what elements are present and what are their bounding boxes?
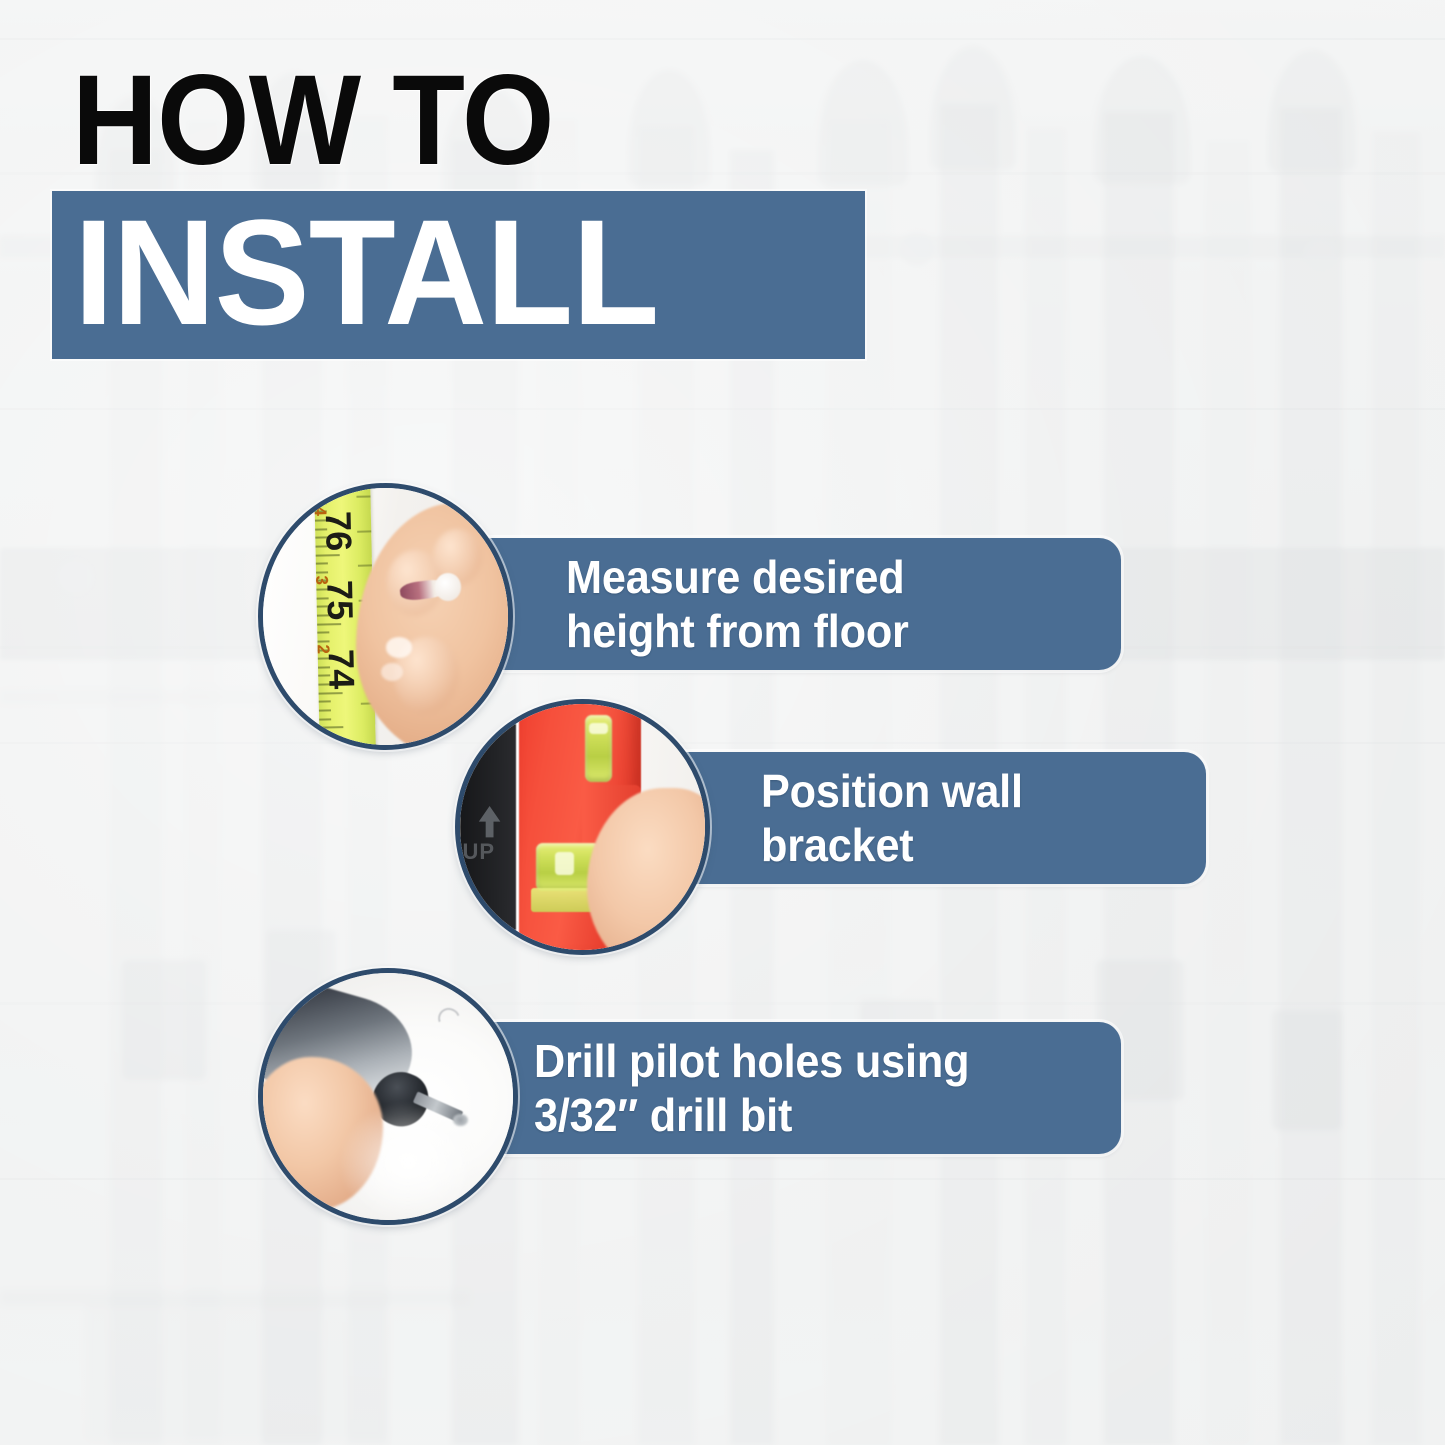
light-glare <box>338 1101 478 1220</box>
step-1-label-text: Measure desired height from floor <box>566 550 909 659</box>
level-vial-vertical <box>585 715 612 781</box>
fingernail <box>386 637 413 658</box>
fingernail <box>381 663 403 681</box>
page-title: HOW TO INSTALL <box>52 58 952 359</box>
tape-small-number: 2 <box>312 644 332 654</box>
tape-number: 76 <box>316 511 359 552</box>
step-1-label-pill: Measure desired height from floor <box>470 538 1121 670</box>
step-2-label-pill: Position wall bracket <box>665 752 1206 884</box>
infographic-canvas: HOW TO INSTALL Measure desired height fr… <box>0 0 1445 1445</box>
step-3-label-pill: Drill pilot holes using 3/32″ drill bit <box>470 1022 1121 1154</box>
tape-small-number: 3 <box>311 575 331 585</box>
title-banner-install: INSTALL <box>52 191 865 359</box>
step-3-label-text: Drill pilot holes using 3/32″ drill bit <box>534 1034 969 1143</box>
step-3-photo-drill <box>258 968 518 1225</box>
title-line-how-to: HOW TO <box>72 58 890 183</box>
up-arrow-icon <box>470 802 509 841</box>
tape-small-number: 4 <box>309 506 329 516</box>
title-line-install: INSTALL <box>74 197 658 347</box>
step-2-label-text: Position wall bracket <box>761 764 1023 873</box>
tape-number: 75 <box>318 580 361 621</box>
bracket-up-label: UP <box>462 839 495 865</box>
step-2-photo-spirit-level: UP <box>455 699 710 955</box>
